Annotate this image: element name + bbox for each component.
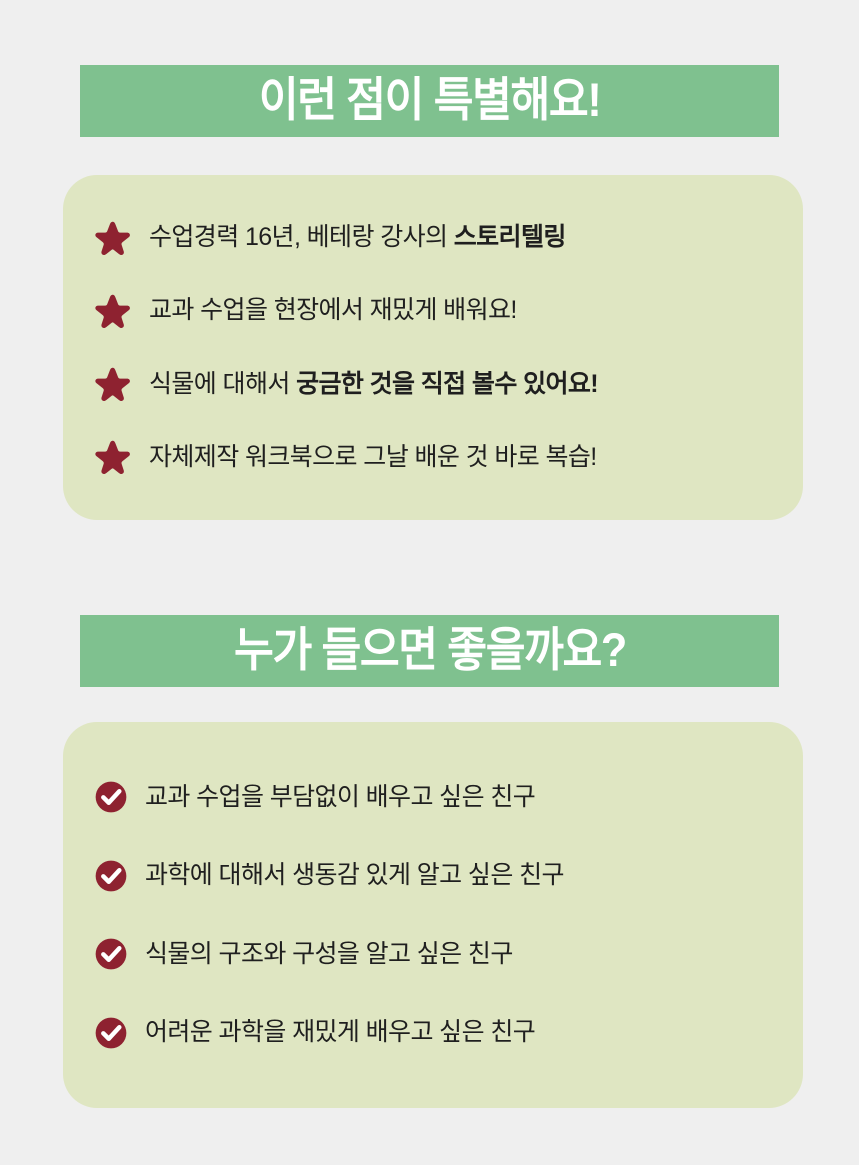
item-lead: 식물에 대해서: [149, 370, 296, 398]
star-icon: [95, 366, 131, 402]
list-item-text: 식물의 구조와 구성을 알고 싶은 친구: [145, 939, 513, 970]
list-item: 수업경력 16년, 베테랑 강사의 스토리텔링: [95, 220, 773, 256]
special-points-list: 수업경력 16년, 베테랑 강사의 스토리텔링 교과 수업을 현장에서 재밌게 …: [95, 201, 773, 494]
banner-title-audience: 누가 들으면 좋을까요?: [234, 626, 626, 676]
list-item-text: 어려운 과학을 재밌게 배우고 싶은 친구: [145, 1017, 535, 1048]
target-audience-list: 교과 수업을 부담없이 배우고 싶은 친구 과학에 대해서 생동감 있게 알고 …: [95, 758, 773, 1072]
banner-title-special: 이런 점이 특별해요!: [259, 76, 600, 126]
item-lead: 수업경력 16년, 베테랑 강사의: [149, 223, 454, 251]
item-lead: 교과 수업을 부담없이 배우고 싶은 친구: [145, 783, 535, 811]
item-lead: 교과 수업을 현장에서 재밌게 배워요!: [149, 296, 517, 324]
list-item: 식물에 대해서 궁금한 것을 직접 볼수 있어요!: [95, 366, 773, 402]
check-circle-icon: [95, 938, 127, 970]
item-strong: 궁금한 것을 직접 볼수 있어요!: [296, 370, 598, 398]
list-item-text: 과학에 대해서 생동감 있게 알고 싶은 친구: [145, 860, 564, 891]
check-circle-icon: [95, 781, 127, 813]
list-item-text: 식물에 대해서 궁금한 것을 직접 볼수 있어요!: [149, 369, 598, 400]
star-icon: [95, 220, 131, 256]
list-item: 식물의 구조와 구성을 알고 싶은 친구: [95, 938, 773, 970]
promo-page: 이런 점이 특별해요! 수업경력 16년, 베테랑 강사의 스토리텔링: [0, 0, 859, 1165]
list-item-text: 자체제작 워크북으로 그날 배운 것 바로 복습!: [149, 442, 597, 473]
star-icon: [95, 293, 131, 329]
list-item: 어려운 과학을 재밌게 배우고 싶은 친구: [95, 1017, 773, 1049]
card-target-audience: 교과 수업을 부담없이 배우고 싶은 친구 과학에 대해서 생동감 있게 알고 …: [63, 722, 803, 1108]
list-item: 교과 수업을 부담없이 배우고 싶은 친구: [95, 781, 773, 813]
item-lead: 어려운 과학을 재밌게 배우고 싶은 친구: [145, 1018, 535, 1046]
section-special-points: 이런 점이 특별해요! 수업경력 16년, 베테랑 강사의 스토리텔링: [0, 65, 859, 520]
card-special-points: 수업경력 16년, 베테랑 강사의 스토리텔링 교과 수업을 현장에서 재밌게 …: [63, 175, 803, 520]
item-lead: 식물의 구조와 구성을 알고 싶은 친구: [145, 940, 513, 968]
check-circle-icon: [95, 860, 127, 892]
list-item: 자체제작 워크북으로 그날 배운 것 바로 복습!: [95, 439, 773, 475]
section-target-audience: 누가 들으면 좋을까요? 교과 수업을 부담없이 배우고 싶은 친구: [0, 615, 859, 1108]
section-banner-special: 이런 점이 특별해요!: [80, 65, 779, 137]
list-item: 과학에 대해서 생동감 있게 알고 싶은 친구: [95, 860, 773, 892]
list-item-text: 교과 수업을 부담없이 배우고 싶은 친구: [145, 782, 535, 813]
item-lead: 과학에 대해서 생동감 있게 알고 싶은 친구: [145, 861, 564, 889]
list-item-text: 교과 수업을 현장에서 재밌게 배워요!: [149, 295, 517, 326]
list-item: 교과 수업을 현장에서 재밌게 배워요!: [95, 293, 773, 329]
item-strong: 스토리텔링: [454, 223, 566, 251]
star-icon: [95, 439, 131, 475]
check-circle-icon: [95, 1017, 127, 1049]
item-lead: 자체제작 워크북으로 그날 배운 것 바로 복습!: [149, 443, 597, 471]
section-banner-audience: 누가 들으면 좋을까요?: [80, 615, 779, 687]
list-item-text: 수업경력 16년, 베테랑 강사의 스토리텔링: [149, 222, 566, 253]
